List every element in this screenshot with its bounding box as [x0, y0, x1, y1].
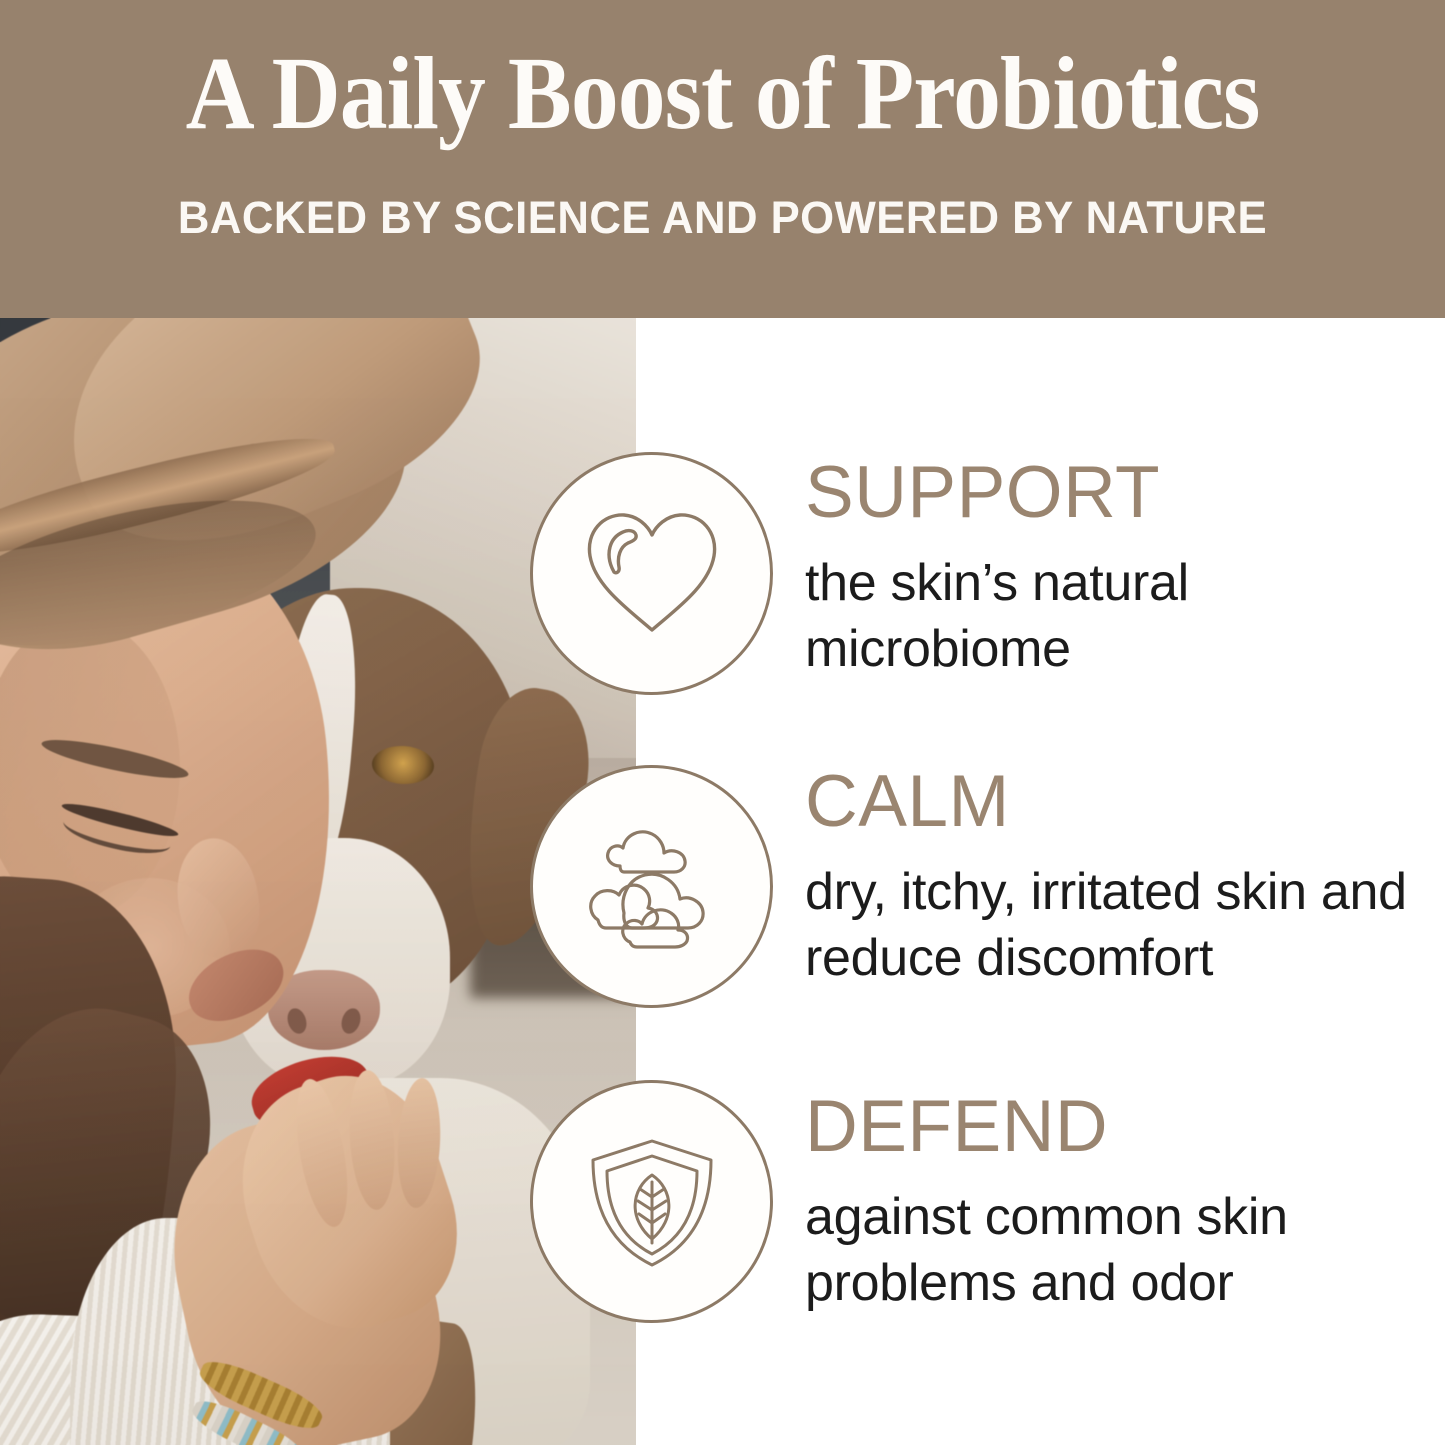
benefit-title: CALM: [805, 765, 1415, 838]
header-banner: A Daily Boost of Probiotics BACKED BY SC…: [0, 0, 1445, 318]
benefit-title: SUPPORT: [805, 456, 1415, 529]
benefit-text-defend: DEFEND against common skin problems and …: [805, 1090, 1415, 1316]
page-subtitle: BACKED BY SCIENCE AND POWERED BY NATURE: [178, 192, 1267, 244]
shield-leaf-icon: [530, 1080, 773, 1323]
benefit-text-calm: CALM dry, itchy, irritated skin and redu…: [805, 765, 1415, 991]
benefits-list: SUPPORT the skin’s natural microbiome: [0, 318, 1445, 1445]
benefit-text-support: SUPPORT the skin’s natural microbiome: [805, 456, 1415, 682]
clouds-icon: [530, 765, 773, 1008]
page-title: A Daily Boost of Probiotics: [186, 42, 1260, 146]
benefit-description: against common skin problems and odor: [805, 1185, 1415, 1316]
benefit-description: dry, itchy, irritated skin and reduce di…: [805, 860, 1415, 991]
heart-icon: [530, 452, 773, 695]
product-benefits-graphic: A Daily Boost of Probiotics BACKED BY SC…: [0, 0, 1445, 1445]
benefit-title: DEFEND: [805, 1090, 1415, 1163]
benefit-description: the skin’s natural microbiome: [805, 551, 1415, 682]
